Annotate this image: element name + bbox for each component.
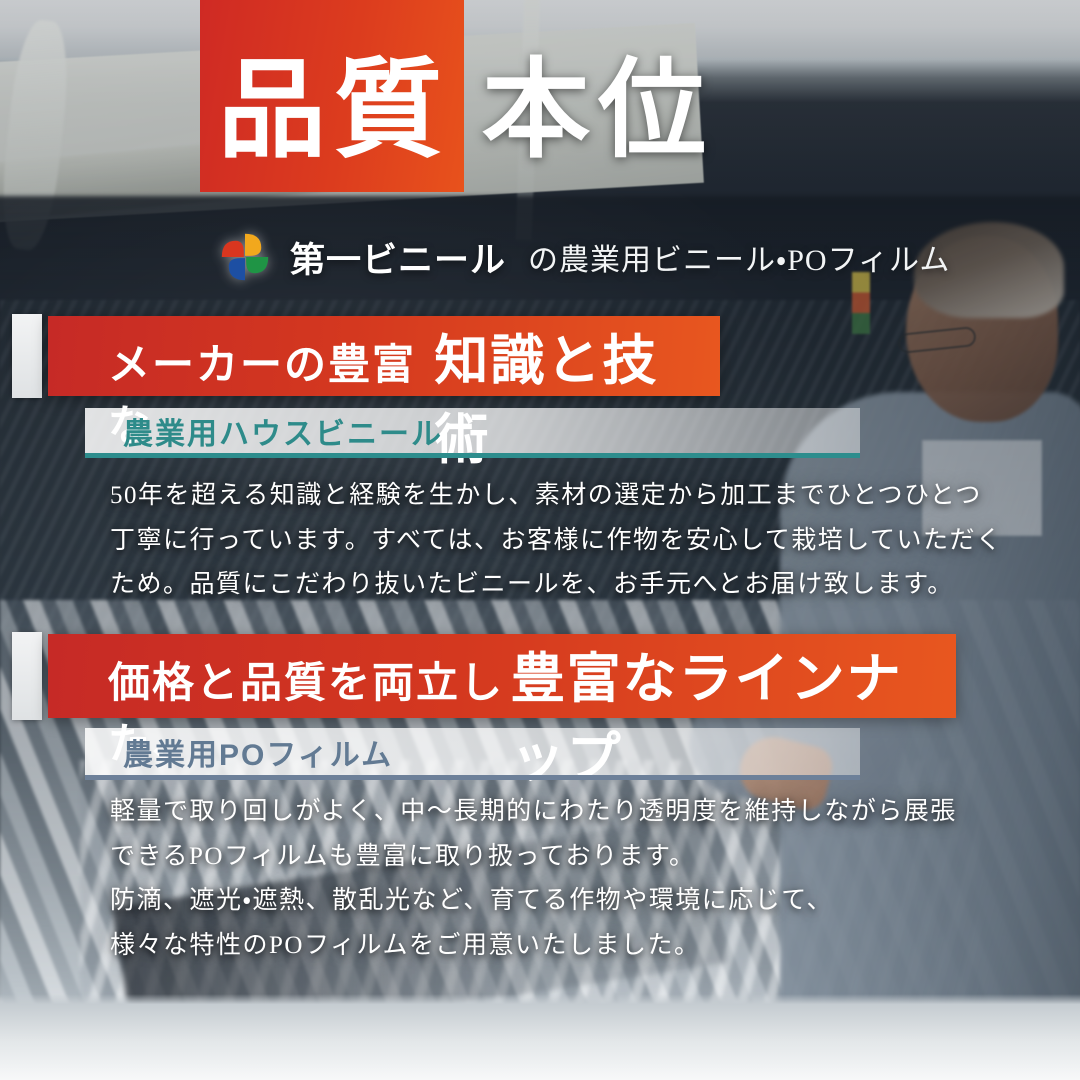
subheading-band-1: 農業用ハウスビニール [85, 408, 860, 458]
section-heading-2: 価格と品質を両立した、 豊富なラインナップ [48, 634, 956, 718]
brand-tagline-text: の農業用ビニール・POフィルム [528, 235, 950, 279]
section-accent-bar-2 [12, 632, 42, 720]
body-line: できるPOフィルムも豊富に取り扱っております。 [110, 835, 957, 880]
brand-tagline: 第一ビニール の農業用ビニール・POフィルム [216, 228, 950, 286]
section-heading-1: メーカーの豊富な 知識と技術 [48, 316, 720, 396]
section-accent-bar-1 [12, 314, 42, 398]
main-title-outside-text: 本位 [482, 52, 714, 171]
main-title: 品質 本位 [200, 0, 714, 192]
body-line: ため。品質にこだわり抜いたビニールを、お手元へとお届け致します。 [110, 563, 1003, 608]
body-line: 50年を超える知識と経験を生かし、素材の選定から加工までひとつひとつ [110, 474, 1003, 519]
body-line: 軽量で取り回しがよく、中～長期的にわたり透明度を維持しながら展張 [110, 790, 957, 835]
subheading-1-text: 農業用ハウスビニール [123, 409, 443, 453]
subheading-2-text: 農業用POフィルム [123, 730, 393, 774]
promo-banner: 品質 本位 第一ビニール の農業用ビニール・POフィルム メーカーの豊富な [0, 0, 1080, 1080]
body-line: 様々な特性のPOフィルムをご用意いたしました。 [110, 924, 957, 969]
body-line: 防滴、遮光・遮熱、散乱光など、育てる作物や環境に応じて、 [110, 879, 957, 924]
pinwheel-logo-icon [216, 228, 274, 286]
subheading-band-2: 農業用POフィルム [85, 728, 860, 780]
main-title-boxed-text: 品質 [218, 52, 450, 171]
section-body-1: 50年を超える知識と経験を生かし、素材の選定から加工までひとつひとつ 丁寧に行っ… [110, 474, 1003, 608]
main-title-boxed: 品質 [200, 0, 464, 192]
section-body-2: 軽量で取り回しがよく、中～長期的にわたり透明度を維持しながら展張 できるPOフィ… [110, 790, 957, 968]
brand-name: 第一ビニール [290, 232, 506, 283]
main-title-outside: 本位 [464, 0, 714, 192]
body-line: 丁寧に行っています。すべては、お客様に作物を安心して栽培していただく [110, 519, 1003, 564]
